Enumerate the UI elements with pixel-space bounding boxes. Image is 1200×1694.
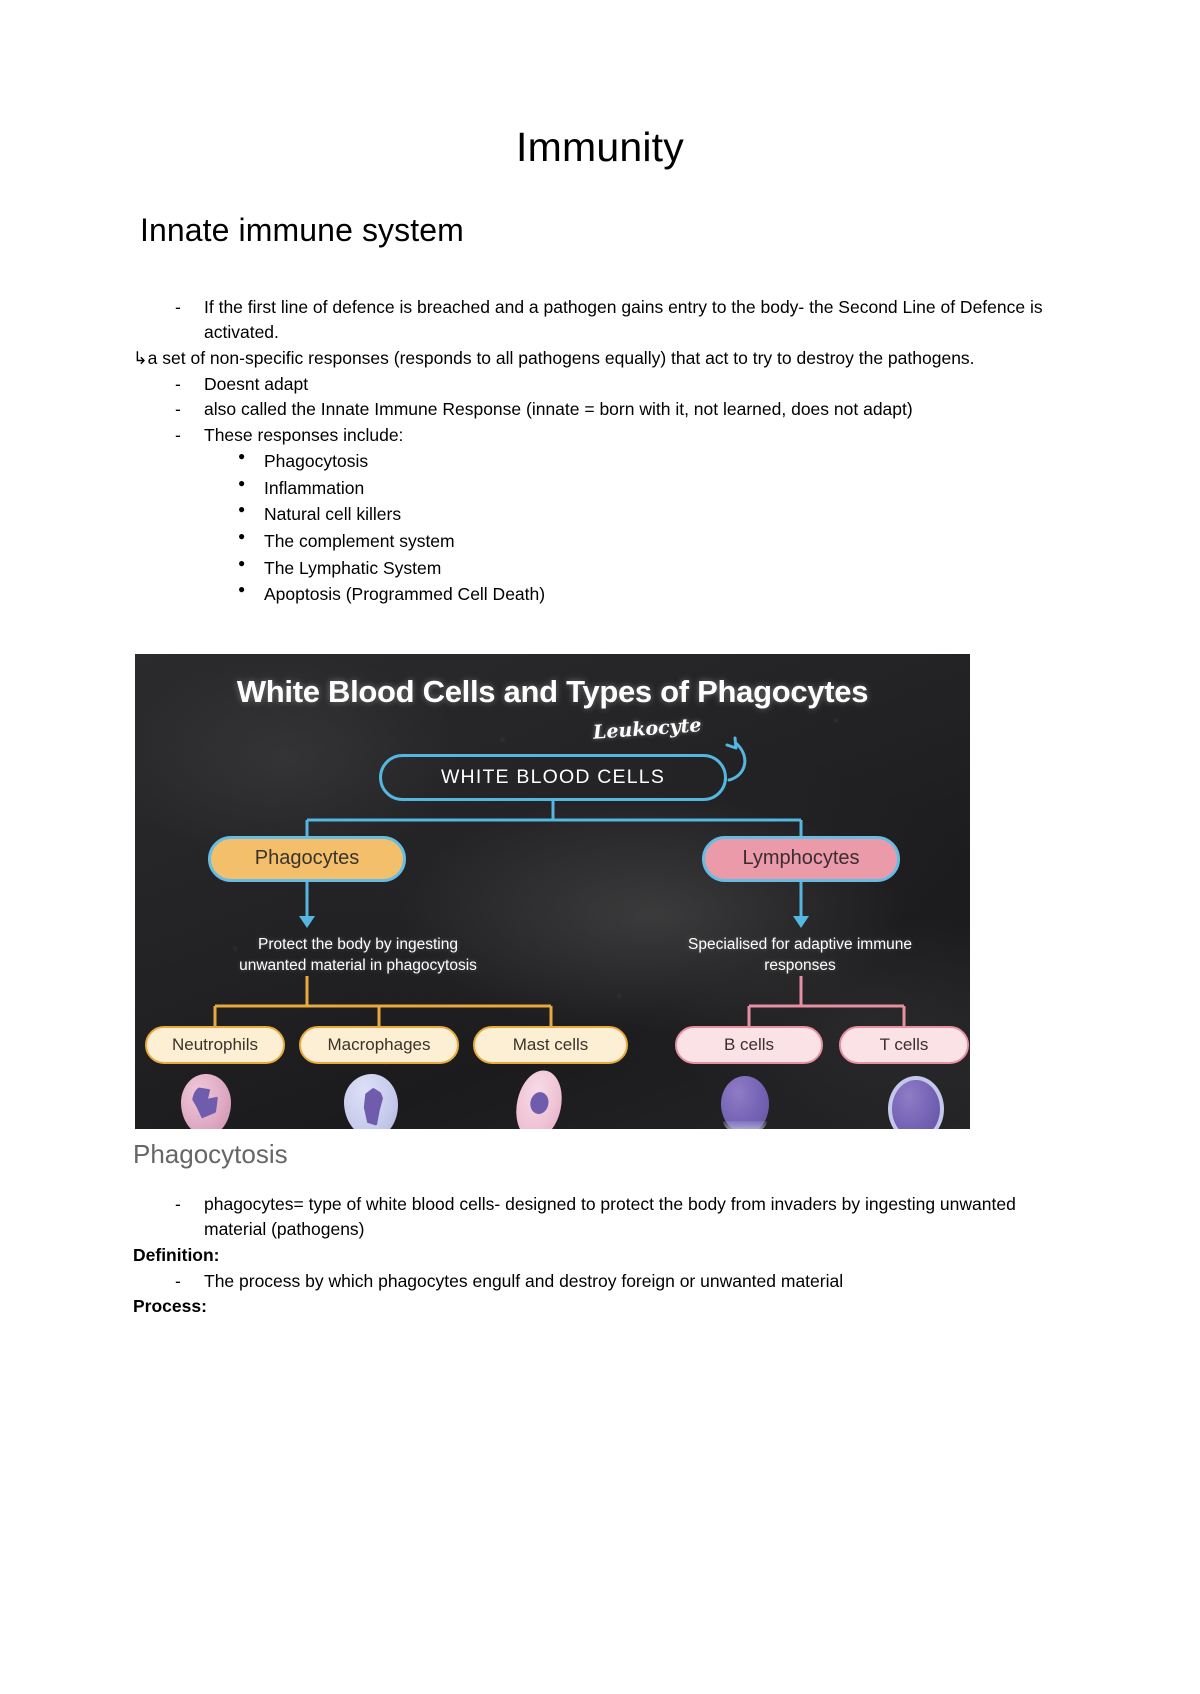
list-item: If the first line of defence is breached… — [171, 295, 1080, 346]
list-item: Doesnt adapt — [171, 372, 1080, 398]
section-heading-innate-immune-system: Innate immune system — [0, 170, 1200, 249]
phagocytosis-section: phagocytes= type of white blood cells- d… — [0, 1192, 1200, 1320]
node-macrophages: Macrophages — [299, 1026, 459, 1064]
definition-bullet-list: The process by which phagocytes engulf a… — [133, 1269, 1080, 1295]
innate-bullet-list: Doesnt adapt also called the Innate Immu… — [133, 372, 1080, 449]
definition-label: Definition: — [133, 1243, 1080, 1269]
list-item: The complement system — [238, 528, 1080, 555]
description-line-1: Protect the body by ingesting — [163, 935, 553, 956]
list-item: Natural cell killers — [238, 501, 1080, 528]
node-phagocytes: Phagocytes — [208, 836, 406, 882]
node-b-cells: B cells — [675, 1026, 823, 1064]
list-item: Apoptosis (Programmed Cell Death) — [238, 581, 1080, 608]
list-item: These responses include: — [171, 423, 1080, 449]
description-text: responses — [764, 957, 836, 974]
phagocytes-description: Protect the body by ingesting unwanted m… — [163, 935, 553, 977]
node-white-blood-cells: WHITE BLOOD CELLS — [379, 754, 727, 801]
wbc-phagocytes-diagram: White Blood Cells and Types of Phagocyte… — [135, 654, 970, 1129]
flow-arrow-line: ↳a set of non-specific responses (respon… — [133, 346, 1080, 372]
node-t-cells: T cells — [839, 1026, 969, 1064]
page-title: Immunity — [0, 0, 1200, 170]
list-item: The Lymphatic System — [238, 555, 1080, 582]
subsection-heading-phagocytosis: Phagocytosis — [0, 1129, 1200, 1170]
node-mast-cells: Mast cells — [473, 1026, 628, 1064]
lymphocytes-description: Specialised for adaptive immune response… — [635, 935, 965, 977]
macrophage-cell-icon — [344, 1074, 398, 1129]
list-item: The process by which phagocytes engulf a… — [171, 1269, 1080, 1295]
neutrophil-cell-icon — [181, 1074, 231, 1129]
b-cell-icon — [721, 1076, 769, 1129]
intro-section: If the first line of defence is breached… — [0, 295, 1200, 608]
description-line-2: unwanted material in phagocytosis — [163, 956, 553, 977]
process-label: Process: — [133, 1294, 1080, 1320]
node-neutrophils: Neutrophils — [145, 1026, 285, 1064]
description-line-2: responses — [635, 956, 965, 977]
diagram-title: White Blood Cells and Types of Phagocyte… — [135, 674, 970, 710]
intro-bullet-list: If the first line of defence is breached… — [133, 295, 1080, 346]
description-text: unwanted material in phagocytosis — [239, 957, 477, 974]
description-text: Specialised for adaptive immune — [688, 936, 912, 953]
list-item: also called the Innate Immune Response (… — [171, 397, 1080, 423]
list-item: Phagocytosis — [238, 448, 1080, 475]
description-line-1: Specialised for adaptive immune — [635, 935, 965, 956]
list-item: Inflammation — [238, 475, 1080, 502]
responses-list: Phagocytosis Inflammation Natural cell k… — [133, 448, 1080, 608]
list-item: phagocytes= type of white blood cells- d… — [171, 1192, 1080, 1243]
node-lymphocytes: Lymphocytes — [702, 836, 900, 882]
description-text: Protect the body by ingesting — [258, 936, 458, 953]
phagocytosis-bullet-list: phagocytes= type of white blood cells- d… — [133, 1192, 1080, 1243]
document-page: Immunity Innate immune system If the fir… — [0, 0, 1200, 1694]
